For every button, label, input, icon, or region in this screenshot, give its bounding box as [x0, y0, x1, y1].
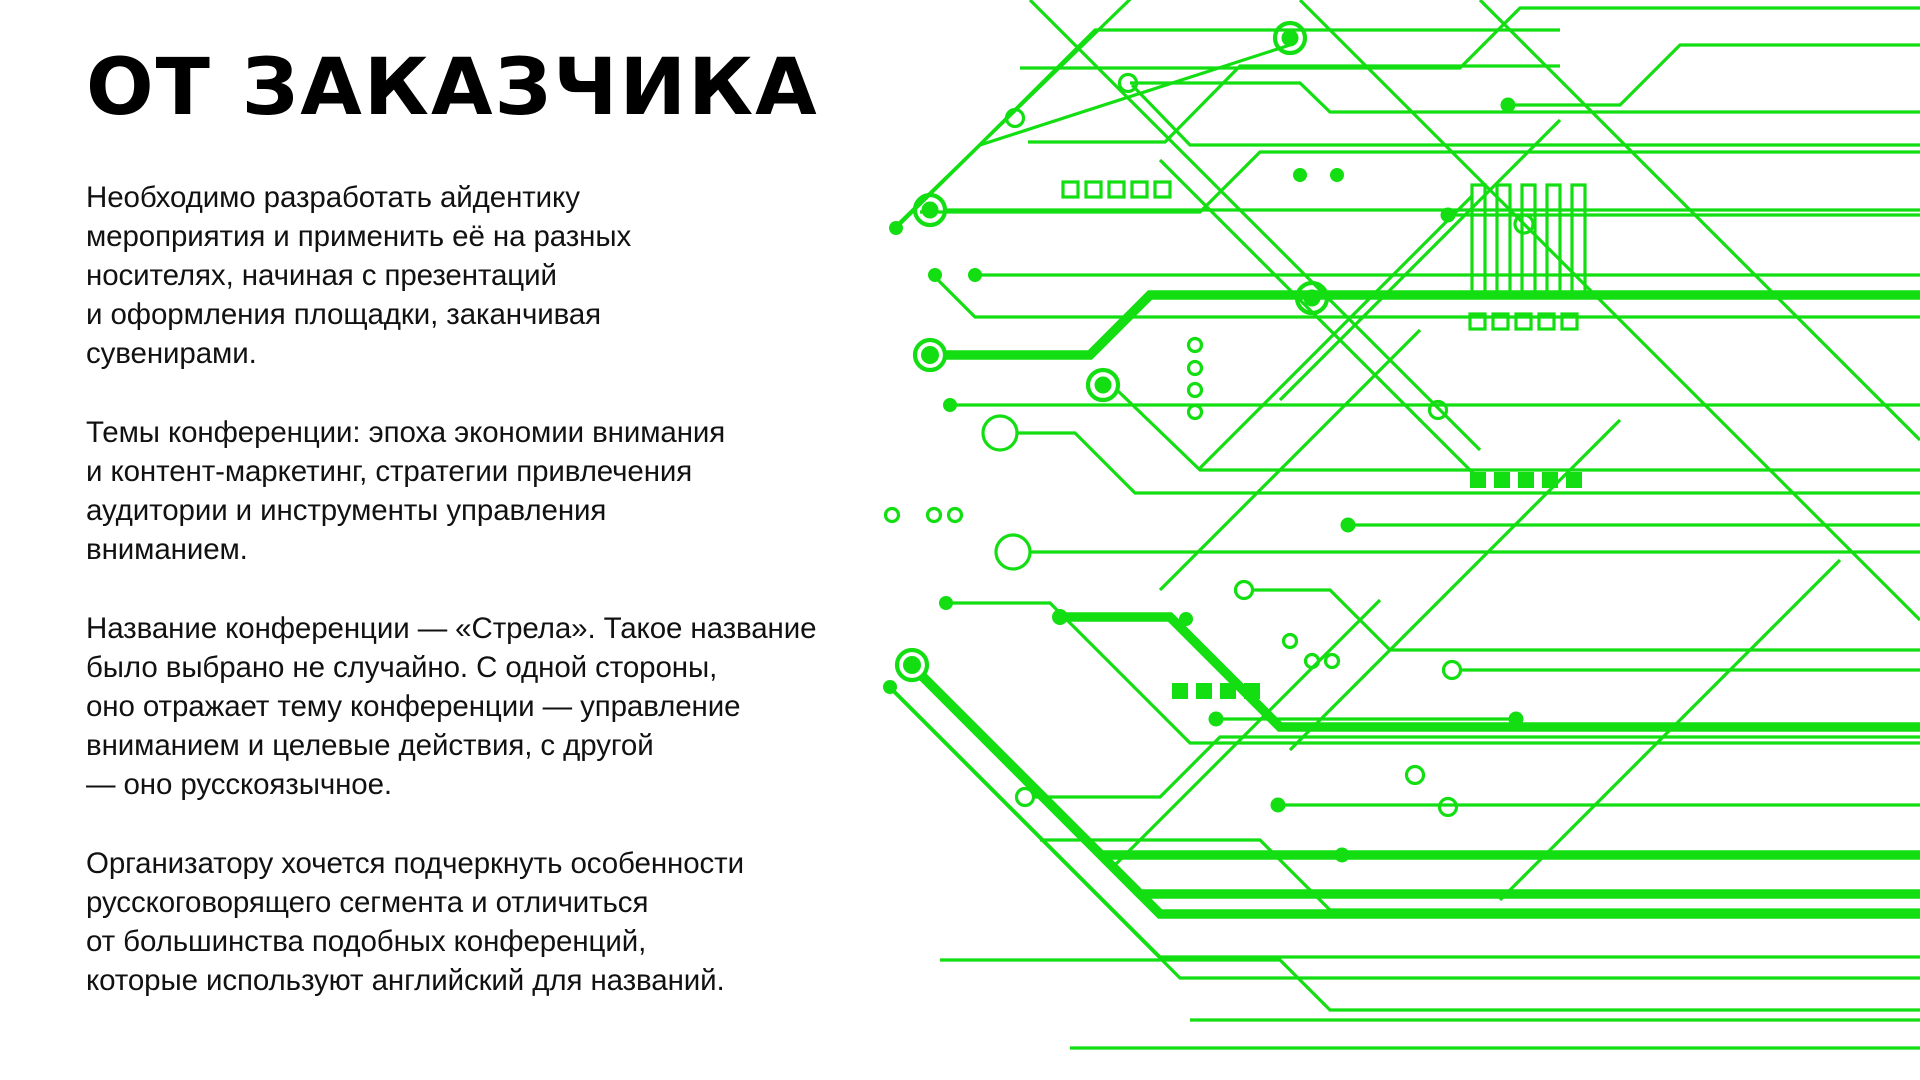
- circuit-group-left-pads: [883, 195, 1920, 957]
- circuit-svg: .t { fill:none; stroke:#12DE12; stroke-w…: [860, 0, 1920, 1080]
- paragraph-brief: Необходимо разработать айдентику меропри…: [86, 178, 906, 373]
- circuit-group-lower-right: [940, 518, 1920, 1049]
- paragraph-topics: Темы конференции: эпоха экономии внимани…: [86, 413, 906, 569]
- circuit-group-top: [890, 0, 1920, 228]
- paragraph-name: Название конференции — «Стрела». Такое н…: [86, 609, 906, 804]
- slide-root: ОТ ЗАКАЗЧИКА Необходимо разработать айде…: [0, 0, 1920, 1080]
- circuit-group-top-right: [1007, 23, 1920, 699]
- circuit-group-bottom-thick: [894, 676, 1920, 978]
- page-title: ОТ ЗАКАЗЧИКА: [86, 46, 922, 130]
- circuit-group-diagonals: [1030, 0, 1920, 900]
- circuit-board-graphic: .t { fill:none; stroke:#12DE12; stroke-w…: [860, 0, 1920, 1080]
- text-column: ОТ ЗАКАЗЧИКА Необходимо разработать айде…: [86, 46, 906, 1000]
- paragraph-positioning: Организатору хочется подчеркнуть особенн…: [86, 844, 906, 1000]
- body-copy: Необходимо разработать айдентику меропри…: [86, 178, 906, 1000]
